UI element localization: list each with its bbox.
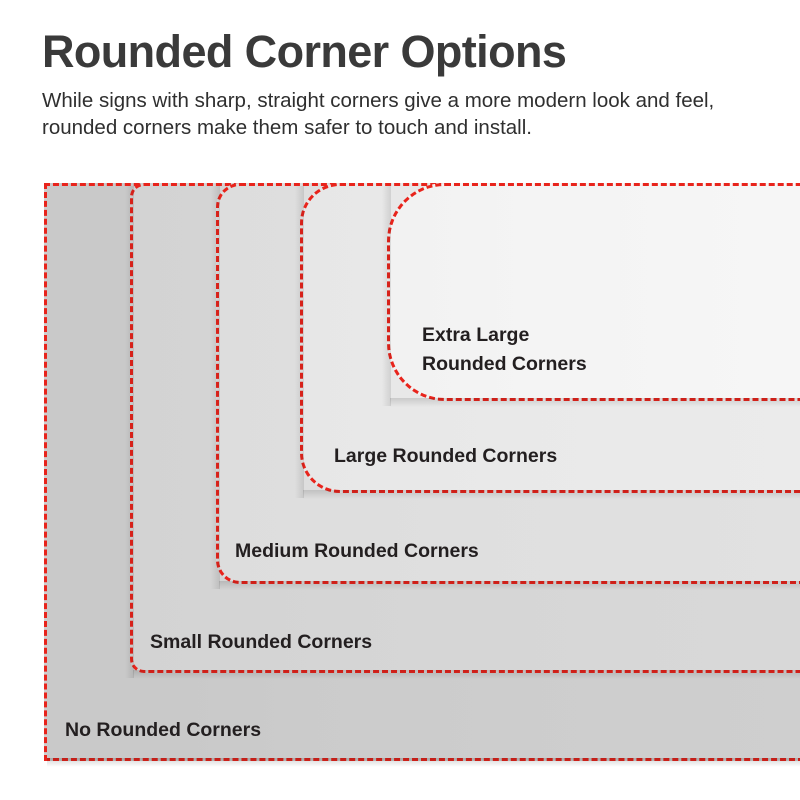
corner-layer-label-extra-large: Extra Large Rounded Corners <box>422 321 587 379</box>
infographic-page: Rounded Corner Options While signs with … <box>0 0 800 800</box>
corner-layer-label-large: Large Rounded Corners <box>334 442 557 471</box>
corner-layer-label-small: Small Rounded Corners <box>150 628 372 657</box>
corner-layer-label-none: No Rounded Corners <box>65 716 261 745</box>
corner-layer-label-medium: Medium Rounded Corners <box>235 537 479 566</box>
layer-shadow <box>47 758 800 767</box>
rounded-corner-diagram: Extra Large Rounded Corners Large Rounde… <box>0 0 800 800</box>
